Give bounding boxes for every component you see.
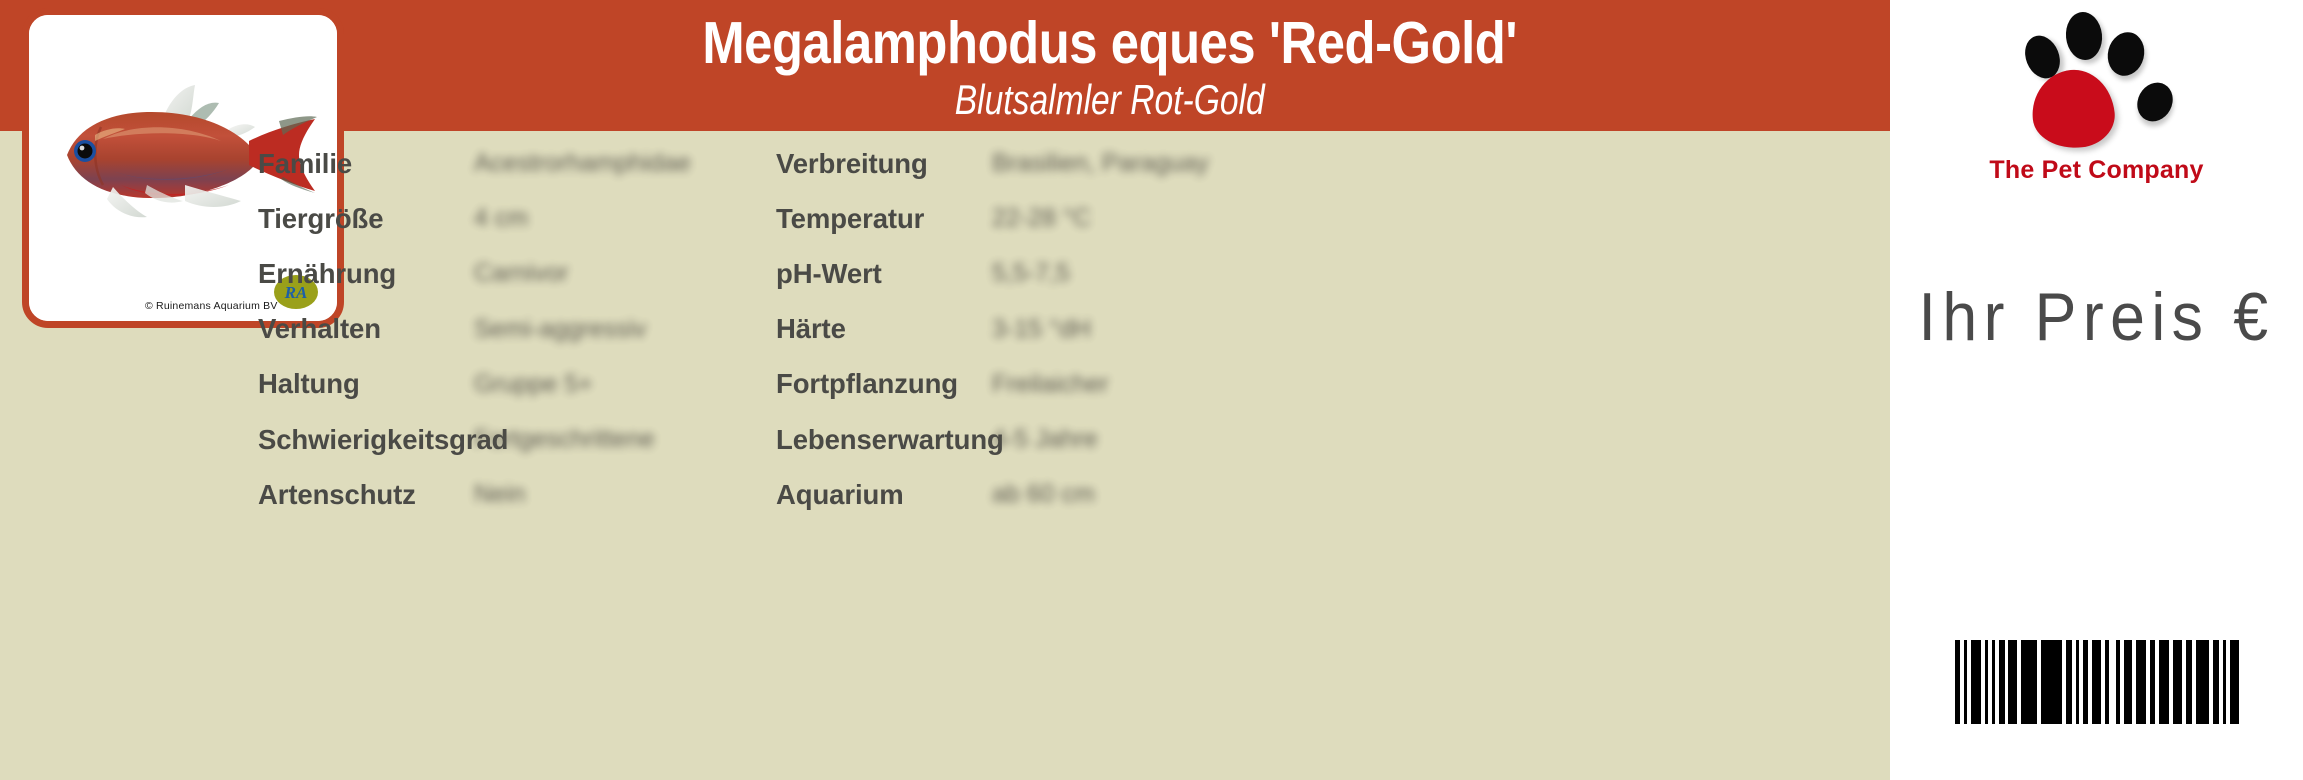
spec-value: Nein (474, 480, 525, 509)
spec-value: 3-15 °dH (992, 315, 1091, 344)
barcode-bar (2041, 640, 2062, 724)
spec-row: Härte3-15 °dH (776, 302, 1296, 357)
brand-logo: The Pet Company (1890, 4, 2303, 194)
spec-label: Haltung (258, 368, 360, 400)
spec-row: Lebenserwartung4-5 Jahre (776, 412, 1296, 467)
product-info-card: Megalamphodus eques 'Red-Gold' Blutsalml… (0, 0, 2303, 780)
header-text-block: Megalamphodus eques 'Red-Gold' Blutsalml… (330, 0, 1890, 131)
spec-label: pH-Wert (776, 258, 882, 290)
spec-label: Härte (776, 313, 846, 345)
specifications-table: FamilieAcestrorhamphidaeTiergröße4 cmErn… (258, 136, 1658, 776)
barcode-bar (2008, 640, 2017, 724)
spec-row: Aquariumab 60 cm (776, 467, 1296, 522)
spec-row: HaltungGruppe 5+ (258, 357, 778, 412)
page-title: Megalamphodus eques 'Red-Gold' (703, 8, 1518, 78)
price-label: Ihr Preis € (1907, 278, 2287, 356)
spec-value: Brasilien, Paraguay (992, 149, 1209, 178)
spec-label: Verhalten (258, 313, 381, 345)
spec-row: FortpflanzungFreilaicher (776, 357, 1296, 412)
spec-value: Carnivor (474, 259, 568, 288)
spec-value: 22-28 °C (992, 204, 1091, 233)
spec-value: Semi-aggressiv (474, 315, 646, 344)
barcode-bar (2230, 640, 2239, 724)
barcode-bar (2196, 640, 2209, 724)
barcode-bar (2124, 640, 2132, 724)
spec-row: ErnährungCarnivor (258, 246, 778, 301)
spec-label: Artenschutz (258, 479, 416, 511)
barcode-space (2109, 640, 2116, 724)
paw-toe-icon (2064, 10, 2105, 62)
spec-column-left: FamilieAcestrorhamphidaeTiergröße4 cmErn… (258, 136, 778, 522)
product-barcode (1890, 640, 2303, 724)
barcode-bar (2092, 640, 2101, 724)
spec-value: 4-5 Jahre (992, 425, 1098, 454)
paw-toe-icon (2103, 28, 2149, 79)
spec-label: Familie (258, 148, 352, 180)
barcode-bar (2136, 640, 2146, 724)
paw-print-icon (2020, 4, 2180, 154)
spec-label: Fortpflanzung (776, 368, 958, 400)
paw-toe-icon (2131, 76, 2180, 127)
spec-value: Acestrorhamphidae (474, 149, 691, 178)
spec-row: pH-Wert5,5-7,5 (776, 246, 1296, 301)
spec-row: ArtenschutzNein (258, 467, 778, 522)
spec-value: Freilaicher (992, 370, 1109, 399)
spec-value: Gruppe 5+ (474, 370, 593, 399)
spec-label: Verbreitung (776, 148, 928, 180)
barcode-bar (2021, 640, 2037, 724)
spec-label: Ernährung (258, 258, 396, 290)
barcode-bar (1971, 640, 1981, 724)
spec-value: Fortgeschrittene (474, 425, 655, 454)
spec-column-right: VerbreitungBrasilien, ParaguayTemperatur… (776, 136, 1296, 522)
spec-label: Temperatur (776, 203, 924, 235)
spec-value: 5,5-7,5 (992, 259, 1070, 288)
spec-row: VerbreitungBrasilien, Paraguay (776, 136, 1296, 191)
spec-label: Tiergröße (258, 203, 383, 235)
brand-name: The Pet Company (1890, 156, 2303, 185)
side-panel: The Pet Company Ihr Preis € (1890, 0, 2303, 780)
spec-label: Lebenserwartung (776, 424, 1004, 456)
page-subtitle: Blutsalmler Rot-Gold (955, 76, 1265, 124)
barcode-bar (2159, 640, 2169, 724)
spec-row: FamilieAcestrorhamphidae (258, 136, 778, 191)
spec-value: 4 cm (474, 204, 528, 233)
spec-row: VerhaltenSemi-aggressiv (258, 302, 778, 357)
spec-row: Tiergröße4 cm (258, 191, 778, 246)
spec-label: Schwierigkeitsgrad (258, 424, 508, 456)
paw-pad-icon (2028, 66, 2118, 152)
spec-row: SchwierigkeitsgradFortgeschrittene (258, 412, 778, 467)
spec-value: ab 60 cm (992, 480, 1095, 509)
spec-row: Temperatur22-28 °C (776, 191, 1296, 246)
barcode-bar (2173, 640, 2182, 724)
spec-label: Aquarium (776, 479, 904, 511)
